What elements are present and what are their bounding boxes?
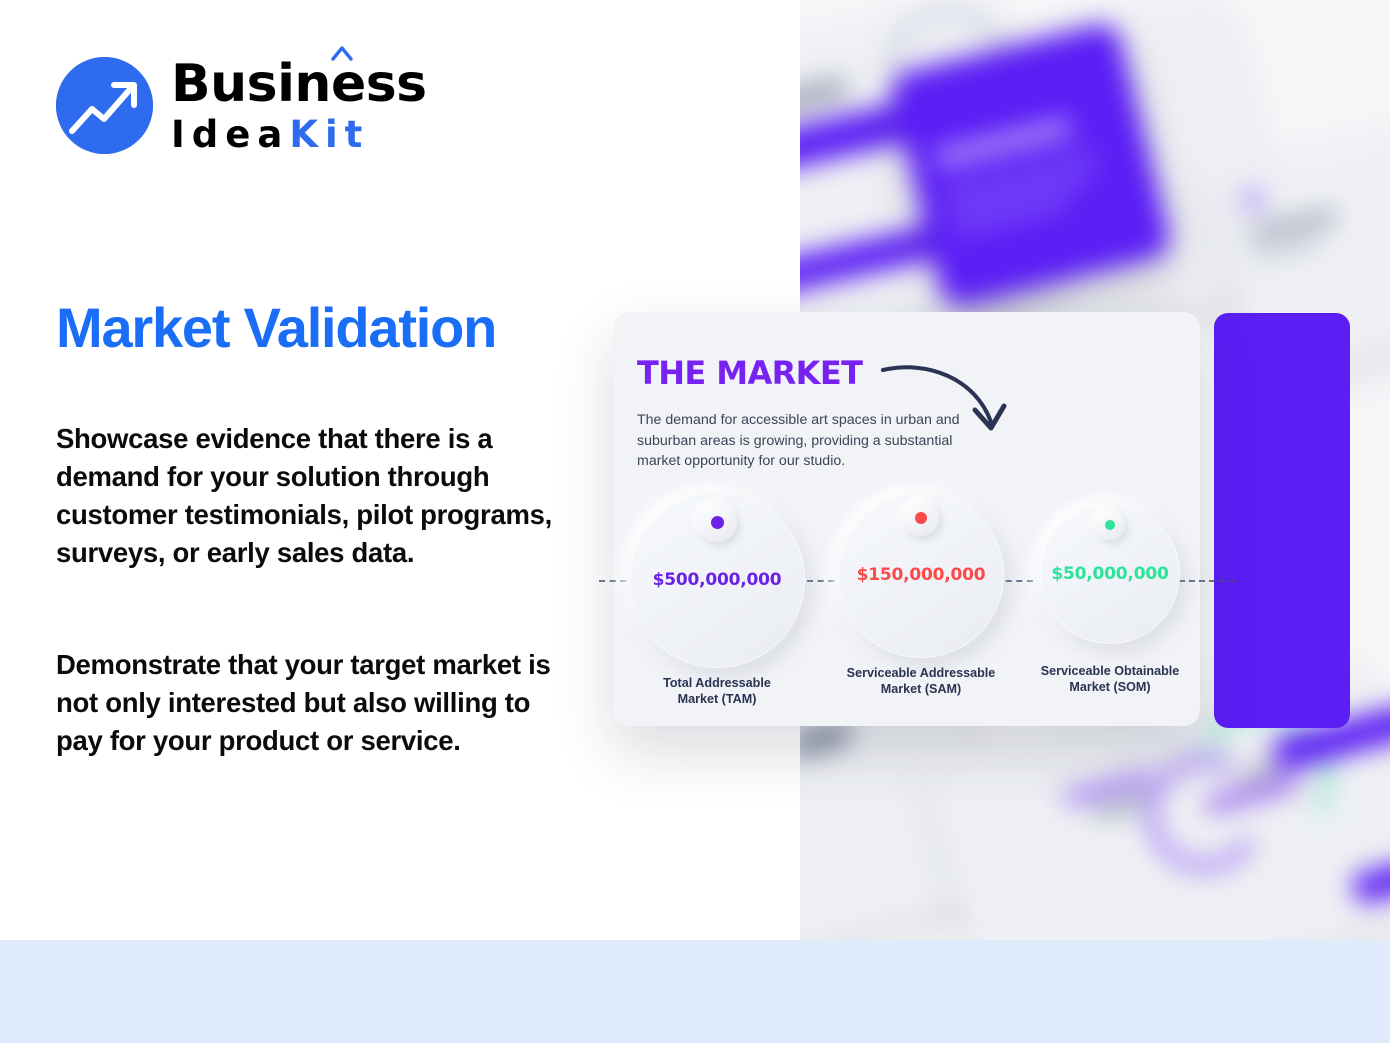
page-title: Market Validation — [56, 297, 496, 360]
sam-knob — [903, 500, 939, 536]
body-paragraph-1: Showcase evidence that there is a demand… — [56, 420, 576, 572]
bottom-color-band — [0, 940, 1390, 1043]
som-knob — [1095, 510, 1125, 540]
metric-som[interactable]: $50,000,000 Serviceable Obtainable Marke… — [1024, 492, 1196, 695]
som-amount: $50,000,000 — [1051, 564, 1168, 584]
market-card: THE MARKET The demand for accessible art… — [613, 312, 1200, 726]
brand-kit-text: Kit — [289, 113, 369, 156]
circumflex-accent-icon — [331, 45, 353, 61]
sam-amount: $150,000,000 — [857, 565, 986, 585]
som-disc: $50,000,000 — [1040, 504, 1180, 644]
som-dot-icon — [1105, 520, 1115, 530]
tam-label: Total Addressable Market (TAM) — [626, 676, 808, 707]
market-size-chart: $500,000,000 Total Addressable Market (T… — [613, 492, 1200, 717]
body-paragraph-2: Demonstrate that your target market is n… — [56, 646, 576, 760]
brand-logo[interactable]: Business IdeaKit — [56, 57, 427, 154]
brand-name-line2: IdeaKit — [171, 116, 427, 153]
brand-name-line1: Business — [171, 58, 427, 110]
tam-amount: $500,000,000 — [653, 570, 782, 590]
brand-name-text: Business — [171, 54, 427, 114]
som-label: Serviceable Obtainable Market (SOM) — [1024, 664, 1196, 695]
brand-idea-text: Idea — [171, 113, 289, 156]
sam-label: Serviceable Addressable Market (SAM) — [826, 666, 1016, 697]
purple-accent-block — [1214, 313, 1350, 728]
card-title: THE MARKET — [637, 354, 862, 392]
slide-canvas: THE MARKET The demand for accessible art… — [0, 0, 1390, 1043]
bg-bar — [793, 225, 937, 303]
metric-tam[interactable]: $500,000,000 Total Addressable Market (T… — [626, 492, 808, 707]
tam-disc: $500,000,000 — [629, 492, 805, 668]
brand-wordmark: Business IdeaKit — [171, 58, 427, 153]
curved-arrow-down-icon — [879, 352, 1015, 448]
bg-dot-icon — [1239, 187, 1265, 213]
metric-sam[interactable]: $150,000,000 Serviceable Addressable Mar… — [826, 492, 1016, 697]
bg-bar — [1092, 795, 1148, 821]
tam-knob — [697, 502, 737, 542]
sam-disc: $150,000,000 — [838, 492, 1004, 658]
sam-dot-icon — [915, 512, 927, 524]
bg-bar — [1248, 208, 1339, 241]
tam-dot-icon — [711, 516, 724, 529]
growth-arrow-circle-icon — [56, 57, 153, 154]
